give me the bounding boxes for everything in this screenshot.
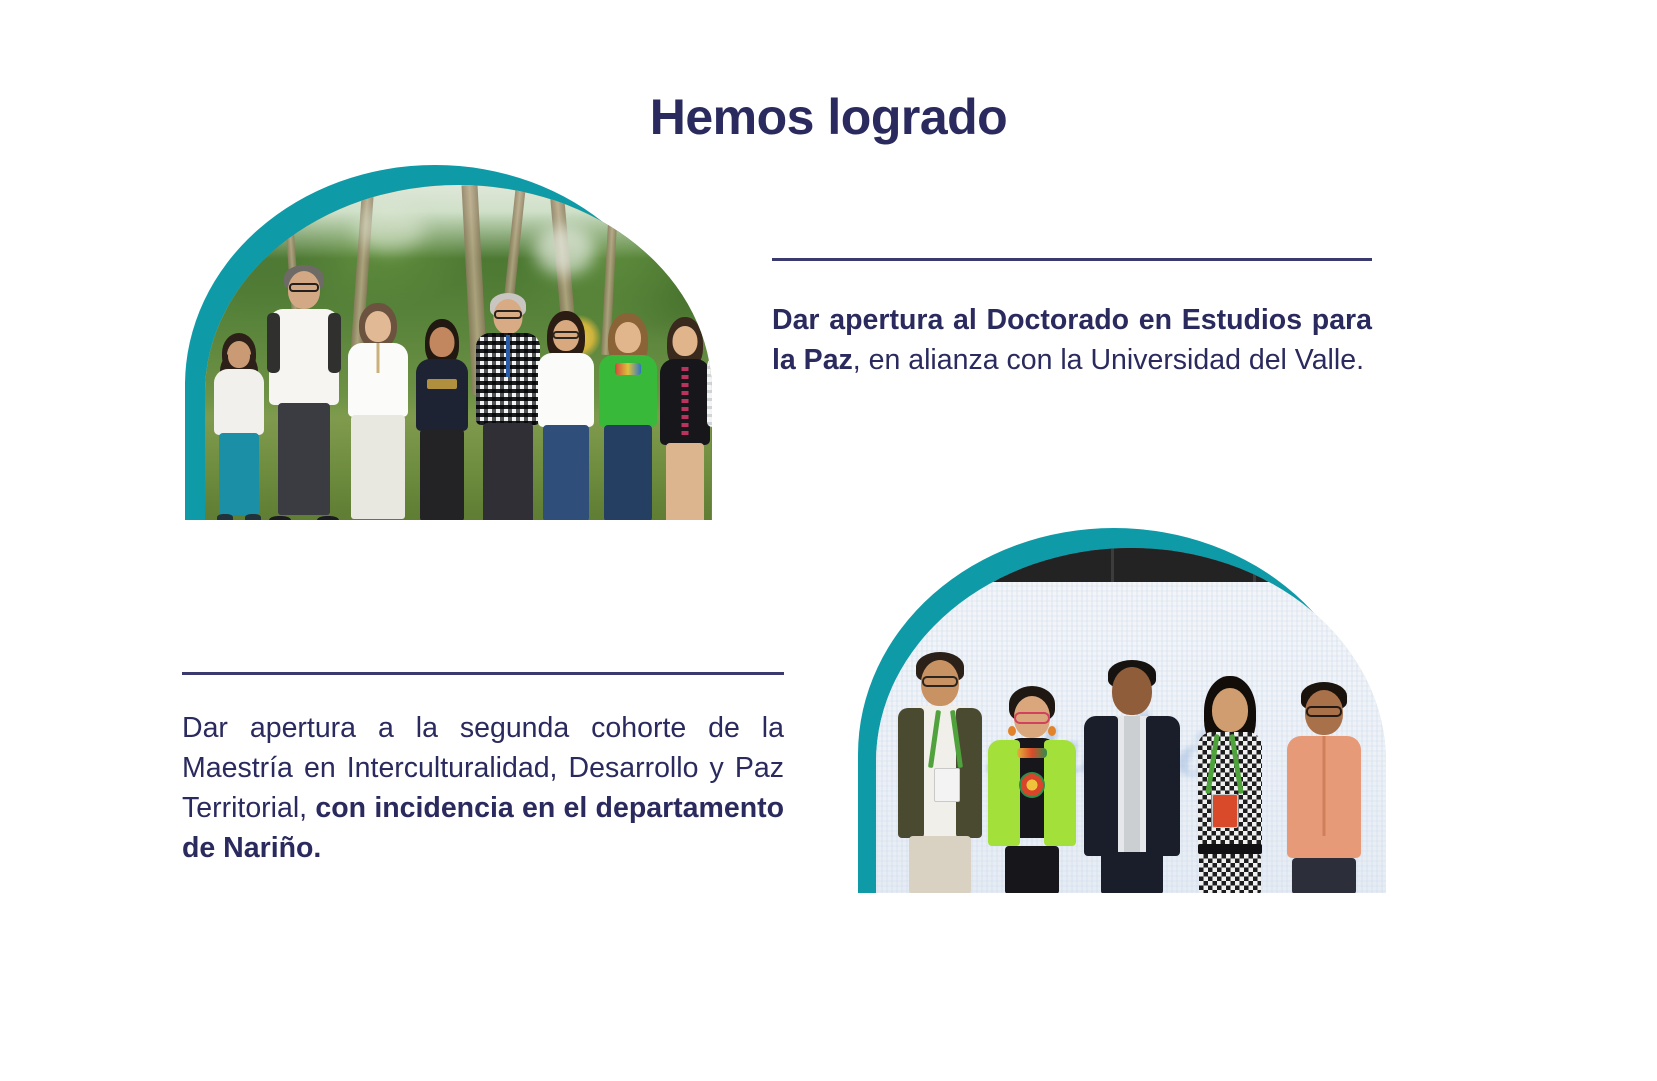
- divider-rule-2: [182, 672, 784, 675]
- divider-rule-1: [772, 258, 1372, 261]
- person-figure: [1184, 676, 1276, 893]
- person-figure: [211, 333, 267, 520]
- achievement-1-image-block: [185, 165, 715, 520]
- group-photo-park: [205, 185, 712, 520]
- person-figure: [265, 265, 343, 520]
- achievement-2-text-card: Dar apertura a la segunda cohorte de la …: [182, 672, 784, 869]
- person-figure: [892, 652, 988, 893]
- id-badge: [934, 768, 960, 802]
- group-photo-event: sduc i ón: [876, 548, 1386, 893]
- person-figure: [1278, 682, 1370, 893]
- achievement-2-text: Dar apertura a la segunda cohorte de la …: [182, 709, 784, 869]
- id-badge: [1212, 794, 1238, 828]
- person-figure: [597, 313, 659, 520]
- person-figure: [535, 311, 597, 520]
- achievement-1-text: Dar apertura al Doctorado en Estudios pa…: [772, 301, 1372, 381]
- person-figure: [1082, 660, 1182, 893]
- achievement-1-text-card: Dar apertura al Doctorado en Estudios pa…: [772, 258, 1372, 381]
- person-figure: [413, 319, 471, 520]
- page-title: Hemos logrado: [0, 90, 1657, 145]
- person-figure: [345, 303, 411, 520]
- achievement-2-image-block: sduc i ón: [858, 528, 1388, 893]
- person-figure: [988, 686, 1076, 893]
- person-figure: [657, 317, 712, 520]
- achievement-1-text-normal: , en alianza con la Universidad del Vall…: [853, 344, 1364, 376]
- person-figure: [705, 311, 712, 520]
- person-figure: [473, 293, 543, 520]
